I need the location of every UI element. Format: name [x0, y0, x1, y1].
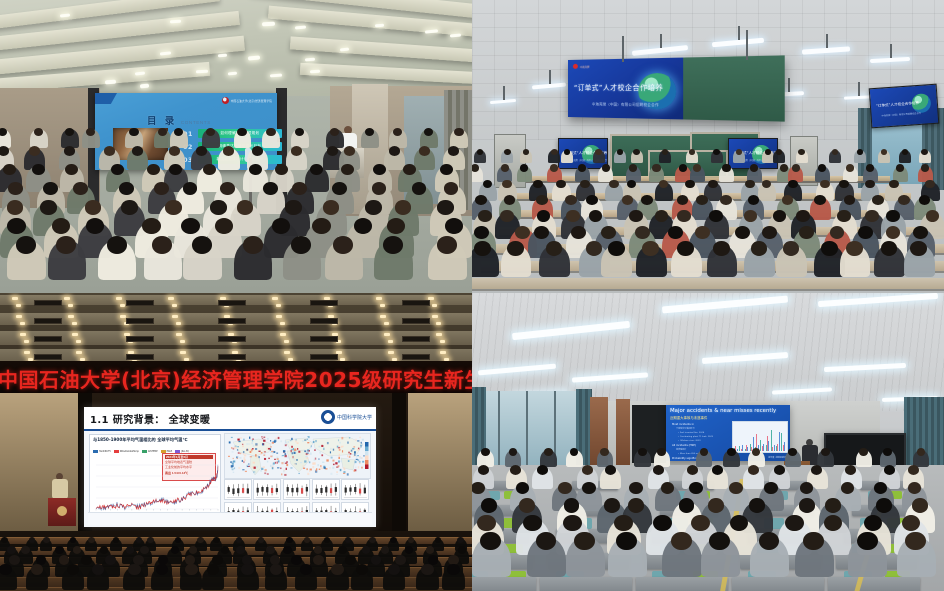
anomaly-cell — [255, 448, 257, 450]
anomaly-cell — [273, 451, 275, 453]
podium-emblem-icon — [57, 506, 67, 516]
slide-bullet: • More than 200 recorded — [678, 453, 705, 456]
audience-member-head — [52, 218, 70, 234]
anomaly-cell — [238, 452, 240, 453]
ceiling-vent — [126, 354, 154, 360]
anomaly-cell — [319, 451, 320, 453]
student-desk — [540, 577, 632, 591]
ceiling-light — [388, 351, 394, 354]
anomaly-cell — [267, 461, 268, 463]
anomaly-cell — [305, 456, 307, 457]
anomaly-cell — [242, 469, 244, 470]
audience-member-head — [272, 218, 290, 234]
audience-member-head — [354, 218, 372, 234]
anomaly-cell — [355, 461, 357, 463]
anomaly-cell — [283, 450, 285, 452]
ceiling-vent — [310, 336, 338, 342]
audience-member-head — [919, 195, 931, 205]
audience-member — [437, 222, 472, 258]
audience-member — [374, 240, 412, 280]
audience-member-head — [183, 182, 198, 195]
ceiling-light — [432, 315, 438, 318]
audience-member-head — [16, 236, 36, 253]
anomaly-cell — [354, 470, 356, 471]
anomaly-cell — [339, 454, 340, 456]
student-chair — [580, 491, 596, 500]
anomaly-cell — [355, 439, 356, 441]
anomaly-cell — [290, 440, 292, 441]
audience-member-head — [291, 146, 302, 156]
ceiling-light — [380, 304, 385, 307]
anomaly-cell — [307, 436, 308, 437]
student-desk — [472, 577, 536, 591]
audience-member — [158, 203, 189, 236]
audience-member — [286, 185, 314, 214]
anomaly-cell — [267, 438, 269, 440]
audience-member — [214, 185, 242, 214]
logo-mark-icon — [573, 64, 578, 69]
audience-member-head — [56, 236, 76, 253]
ceiling-light — [76, 351, 82, 354]
audience-member — [325, 240, 363, 280]
anomaly-cell — [261, 452, 263, 453]
student-desk — [652, 529, 721, 543]
slide-title: Major accidents & near misses recently — [670, 408, 776, 414]
slide-logo-text: 中国石油大学(北京)经济管理学院 — [231, 99, 272, 103]
anomaly-cell — [234, 467, 235, 469]
audience-member-head — [86, 218, 104, 234]
side-screen-right: “订单式”人才校企合作培养 中海壳牌（中国）有限公司招聘校企合作 — [728, 138, 778, 169]
audience-member — [114, 203, 145, 236]
slide-bullet: • Fuel terminal fire, 2024 — [678, 432, 704, 435]
anomaly-cell — [252, 438, 254, 439]
anomaly-cell — [284, 453, 286, 455]
light-hanger — [549, 70, 551, 84]
ceiling-light — [384, 333, 390, 336]
anomaly-cell — [243, 451, 244, 453]
boxplot-panel — [283, 479, 311, 500]
anomaly-cell — [340, 469, 342, 471]
anomaly-cell — [237, 449, 238, 451]
anomaly-cell — [318, 458, 319, 459]
audience-member-head — [474, 241, 491, 256]
anomaly-cell — [281, 473, 282, 475]
anomaly-cell — [355, 467, 357, 469]
anomaly-cell — [238, 467, 240, 469]
slide-logo: 中国石油大学(北京)经济管理学院 — [222, 97, 272, 104]
contents-item-number: 03 — [183, 156, 193, 164]
contents-item-number: 02 — [183, 143, 193, 151]
anomaly-cell — [350, 453, 352, 454]
ceiling-light — [432, 304, 437, 307]
anomaly-cell — [326, 459, 328, 461]
contents-item-bar: 明确表达形势与成长目标 — [198, 142, 282, 151]
anomaly-cell — [343, 471, 345, 473]
slide-bullet: • Offshore riser, 2023 — [678, 440, 701, 443]
screen-hanger — [746, 30, 748, 60]
contents-item-label: 如何理解职业生涯规划 — [220, 131, 259, 136]
anomaly-cell — [318, 446, 320, 448]
anomaly-cell — [244, 459, 246, 461]
anomaly-cell — [361, 442, 362, 444]
anomaly-cell — [292, 452, 293, 454]
ceiling-light — [64, 297, 70, 300]
ceiling-light — [280, 333, 286, 336]
panel-top-left: 中国石油大学(北京)经济管理学院 目 录 CONTENTS 01 如何理解职业生… — [0, 0, 472, 293]
audience-member — [164, 166, 189, 192]
slide-title-cn: 目 录 — [147, 113, 177, 127]
anomaly-cell — [287, 456, 289, 458]
anomaly-cell — [261, 468, 263, 470]
side-screen-title: “订单式”人才校企合作培养 — [734, 151, 777, 156]
audience-member-head — [107, 236, 127, 253]
anomaly-cell — [357, 440, 359, 441]
student-chair — [476, 518, 496, 529]
anomaly-cell — [275, 462, 276, 464]
audience-member — [346, 222, 381, 258]
anomaly-cell — [341, 460, 343, 462]
contents-item: 01 如何理解职业生涯规划 — [183, 129, 282, 138]
presentation-slide: Major accidents & near misses recently 近… — [666, 405, 790, 461]
audience-member-head — [333, 236, 353, 253]
slide-title: 目 录 CONTENTS — [147, 113, 211, 127]
anomaly-cell — [323, 448, 325, 450]
anomaly-cell — [358, 466, 359, 468]
desk-row — [499, 227, 944, 237]
anomaly-cell — [357, 459, 359, 461]
anomaly-cell — [290, 467, 292, 469]
anomaly-cell — [354, 454, 356, 456]
window-bank-left — [472, 391, 582, 465]
anomaly-cell — [338, 461, 340, 463]
chart-caption: 按年度 / 按地区统计 — [768, 456, 786, 459]
anomaly-cell — [296, 459, 298, 460]
anomaly-cell — [360, 445, 361, 447]
anomaly-cell — [264, 458, 266, 460]
slide-footnotes — [88, 512, 372, 525]
side-screen-left: “订单式”人才校企合作培养 中海壳牌（中国）有限公司招聘校企合作 — [558, 138, 608, 169]
ceiling-light — [440, 351, 446, 354]
colorbar-segment — [365, 465, 369, 470]
audience-member — [473, 213, 498, 239]
anomaly-cell — [359, 457, 361, 459]
curtain — [444, 90, 472, 210]
brick-pillar — [590, 397, 608, 467]
student-desk — [740, 553, 821, 569]
audience-member-head — [121, 200, 138, 214]
audience-member — [472, 166, 483, 182]
anomaly-cell — [341, 437, 343, 439]
anomaly-cell — [252, 466, 253, 468]
anomaly-cell — [245, 471, 247, 472]
ceiling-light — [280, 322, 285, 325]
audience-member — [291, 129, 309, 148]
anomaly-cell — [285, 443, 287, 445]
screen-hanger — [622, 36, 624, 62]
slide-bullet: All incidents (HSE) — [672, 444, 696, 448]
anomaly-cell — [304, 450, 306, 452]
anomaly-cell — [237, 456, 239, 458]
anomaly-cell — [317, 464, 319, 466]
anomaly-cell — [270, 440, 271, 441]
anomaly-cell — [357, 455, 359, 456]
pew-row — [0, 537, 472, 544]
anomaly-cell — [248, 443, 250, 444]
student-chair — [764, 518, 784, 529]
anomaly-cell — [285, 441, 286, 443]
anomaly-cell — [338, 457, 339, 459]
anomaly-cell — [232, 463, 234, 464]
ceiling-vent — [402, 318, 430, 324]
boxplot-panel — [312, 479, 340, 500]
side-screen-subtitle: 中海壳牌（中国）有限公司招聘校企合作 — [881, 111, 921, 118]
student-desk — [476, 481, 522, 490]
anomaly-cell — [228, 456, 230, 457]
anomaly-cell — [280, 440, 282, 442]
anomaly-cell — [294, 464, 295, 465]
audience-member — [7, 240, 45, 280]
anomaly-cell — [246, 443, 248, 445]
anomaly-cell — [238, 441, 240, 442]
audience-member — [106, 166, 131, 192]
student-desk — [644, 553, 725, 569]
audience-member-head — [192, 236, 212, 253]
ceiling-vent — [310, 354, 338, 360]
anomaly-cell — [349, 437, 350, 438]
ceiling-light — [375, 24, 384, 28]
anomaly-cell — [296, 439, 297, 441]
anomaly-cell — [312, 466, 314, 468]
anomaly-cell — [322, 462, 324, 463]
student-desk — [564, 505, 622, 516]
ceiling-vent — [402, 354, 430, 360]
anomaly-cell — [288, 441, 290, 443]
audience-member-head — [780, 164, 788, 171]
audience-member-head — [154, 182, 169, 195]
audience-member — [203, 203, 234, 236]
anomaly-cell — [281, 462, 283, 464]
audience-member-head — [445, 218, 463, 234]
podium — [48, 498, 76, 526]
door — [494, 134, 526, 188]
audience-member-head — [550, 164, 558, 171]
audience-member-head — [181, 218, 199, 234]
ceiling-light — [68, 315, 74, 318]
anomaly-cell — [361, 467, 363, 469]
anomaly-cell — [359, 463, 361, 464]
university-logo-text: 中国科学院大学 — [337, 414, 372, 421]
anomaly-cell — [349, 456, 351, 458]
anomaly-cell — [336, 474, 337, 475]
continent-shape — [250, 456, 261, 475]
anomaly-cell — [265, 469, 267, 471]
student-desk — [844, 529, 913, 543]
anomaly-cell — [356, 455, 357, 457]
light-hanger — [890, 44, 892, 58]
student-desk — [636, 577, 728, 591]
audience-member-head — [475, 195, 487, 205]
ceiling-light — [276, 315, 282, 318]
audience-member — [135, 222, 170, 258]
anomaly-cell — [253, 462, 255, 464]
anomaly-cell — [347, 473, 349, 475]
ceiling-light — [76, 340, 81, 343]
anomaly-cell — [331, 457, 333, 459]
anomaly-cell — [233, 458, 234, 459]
audience-member-head — [437, 236, 457, 253]
contents-item-label: 新国能源成才计划职业素养 — [216, 157, 263, 162]
anomaly-cell — [264, 472, 266, 474]
university-logo: 中国科学院大学 — [321, 410, 372, 424]
boxplot-panel — [341, 479, 369, 500]
audience-member-head — [243, 236, 263, 253]
anomaly-cell — [304, 439, 306, 441]
ceiling-light — [272, 297, 278, 300]
anomaly-cell — [253, 445, 254, 447]
screen-corner-accent — [95, 93, 117, 104]
student-desk — [472, 553, 533, 569]
anomaly-cell — [264, 451, 266, 452]
audience-member-head — [210, 200, 227, 214]
photo-collage: 中国石油大学(北京)经济管理学院 目 录 CONTENTS 01 如何理解职业生… — [0, 0, 944, 591]
anomaly-cell — [239, 457, 241, 459]
anomaly-line-plot — [90, 435, 220, 513]
ceiling-light — [120, 304, 125, 307]
audience-member — [98, 240, 136, 280]
slide-logo-text: 中海壳牌 — [580, 64, 590, 68]
anomaly-cell — [336, 471, 337, 473]
anomaly-cell — [338, 439, 339, 441]
anomaly-cell — [237, 446, 239, 447]
colorbar-segment — [365, 451, 369, 456]
anomaly-cell — [339, 442, 341, 444]
header-rule — [84, 429, 376, 431]
ceiling-light — [180, 340, 185, 343]
slide-title: “订单式”人才校企合作培养 — [574, 82, 663, 93]
anomaly-cell — [249, 437, 250, 439]
anomaly-cell — [291, 438, 293, 440]
anomaly-cell — [250, 456, 252, 457]
anomaly-series-line — [96, 466, 218, 509]
anomaly-cell — [341, 446, 343, 448]
logo-mark-icon — [222, 97, 229, 104]
anomaly-cell — [247, 465, 249, 466]
podium — [330, 148, 364, 178]
anomaly-cell — [243, 461, 244, 463]
boxplot-panel — [253, 479, 281, 500]
ceiling-vent — [34, 336, 62, 342]
anomaly-cell — [329, 467, 330, 469]
pew-row — [0, 567, 472, 577]
ceiling-light — [172, 304, 177, 307]
anomaly-cell — [330, 451, 331, 453]
anomaly-cell — [315, 458, 316, 460]
slide-title: 1.1 研究背景： 全球变暖 — [90, 411, 210, 426]
student-chair — [772, 491, 788, 500]
anomaly-cell — [258, 451, 260, 452]
anomaly-cell — [268, 448, 270, 450]
anomaly-cell — [236, 456, 237, 458]
anomaly-cell — [294, 452, 296, 454]
audience-member-head — [285, 200, 302, 214]
anomaly-cell — [270, 456, 272, 458]
student-desk — [548, 553, 629, 569]
ceiling-light — [436, 322, 441, 325]
dark-wall-panel — [632, 405, 666, 463]
contents-item-label: 明确表达形势与成长目标 — [218, 144, 261, 149]
anomaly-cell — [247, 449, 248, 451]
audience-member-head — [387, 218, 405, 234]
anomaly-cell — [274, 440, 276, 442]
pew-row — [0, 547, 472, 555]
audience-member-head — [483, 180, 493, 189]
panel-top-right: 中海壳牌 “订单式”人才校企合作培养 中海壳牌（中国）有限公司招聘校企合作 “订… — [472, 0, 944, 293]
anomaly-cell — [351, 450, 353, 452]
light-hanger — [858, 82, 860, 96]
anomaly-cell — [280, 468, 281, 470]
boxplot-panel — [224, 479, 252, 500]
anomaly-cell — [333, 464, 335, 465]
audience-member-head — [295, 128, 304, 136]
ceiling-vent — [126, 318, 154, 324]
anomaly-cell — [261, 436, 263, 437]
audience-member-head — [215, 218, 233, 234]
audience-member — [176, 185, 204, 214]
anomaly-cell — [242, 445, 244, 447]
anomaly-cell — [311, 445, 312, 447]
audience-member-head — [478, 210, 491, 222]
anomaly-cell — [291, 446, 292, 448]
colorbar-segment — [365, 456, 369, 461]
anomaly-cell — [263, 443, 264, 445]
ceiling-vent — [34, 354, 62, 360]
anomaly-cell — [339, 449, 341, 451]
anomaly-cell — [321, 454, 323, 456]
student-desk — [732, 577, 824, 591]
side-screen-subtitle: 中海壳牌（中国）有限公司招聘校企合作 — [569, 158, 608, 162]
ceiling-vent — [310, 300, 338, 306]
anomaly-cell — [284, 474, 286, 476]
audience-member-head — [7, 218, 25, 234]
anomaly-cell — [233, 461, 235, 463]
slide-title-en: CONTENTS — [181, 120, 211, 125]
ceiling-light — [196, 70, 208, 74]
ceiling-vent — [218, 318, 246, 324]
anomaly-cell — [252, 440, 253, 442]
ceiling-light — [12, 297, 18, 300]
contents-item: 02 明确表达形势与成长目标 — [183, 142, 282, 151]
ceiling-light — [284, 351, 290, 354]
anomaly-cell — [277, 467, 279, 468]
anomaly-cell — [282, 455, 284, 456]
anomaly-cell — [303, 465, 305, 467]
anomaly-cell — [316, 468, 317, 470]
anomaly-cell — [275, 438, 277, 439]
anomaly-cell — [332, 467, 334, 469]
anomaly-cell — [332, 460, 334, 462]
ceiling-vent — [402, 336, 430, 342]
global-anomaly-map — [224, 433, 371, 479]
anomaly-cell — [263, 440, 265, 442]
anomaly-cell — [295, 459, 296, 461]
stage-edge — [392, 393, 406, 533]
anomaly-cell — [254, 472, 256, 474]
anomaly-cell — [306, 468, 308, 470]
anomaly-cell — [294, 458, 295, 460]
anomaly-cell — [304, 460, 306, 462]
audience-member-head — [818, 164, 826, 171]
anomaly-cell — [307, 449, 309, 451]
